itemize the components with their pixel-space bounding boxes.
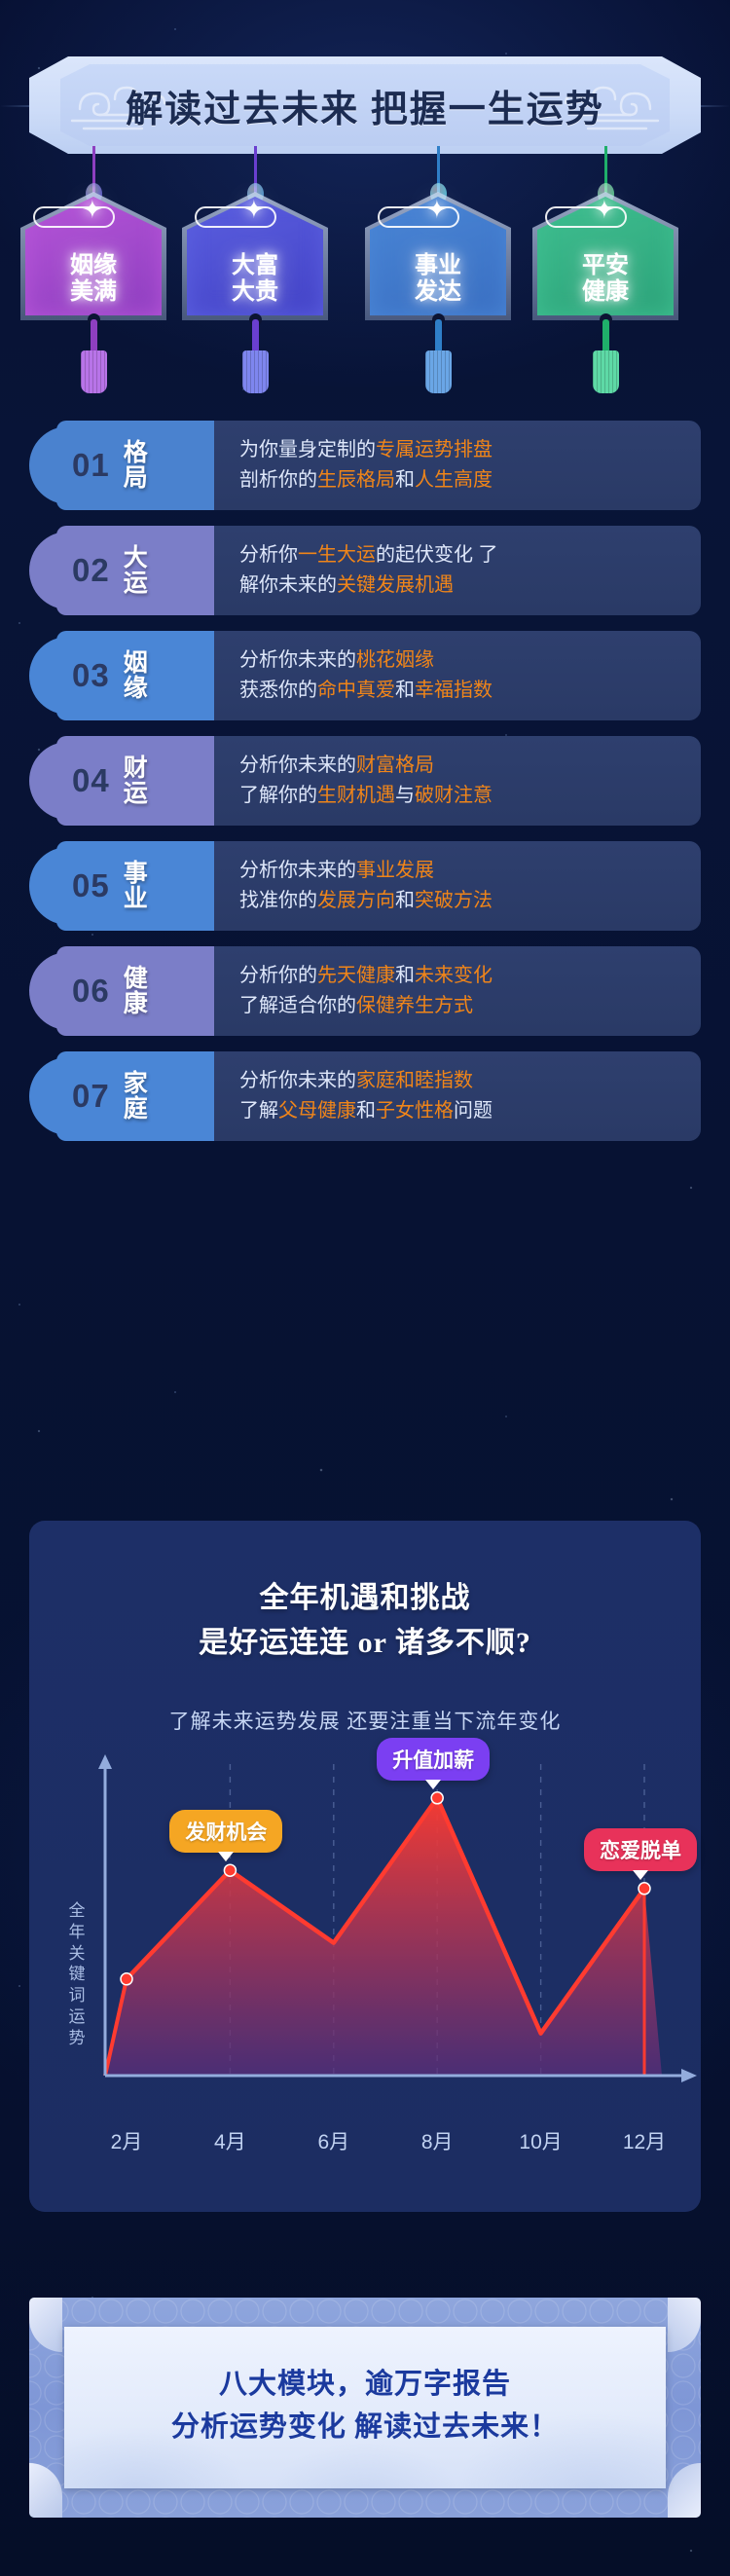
desc-segment: 为你量身定制的 xyxy=(239,439,376,460)
desc-segment: 分析你的 xyxy=(239,965,317,986)
chart-x-tick-label: 12月 xyxy=(623,2126,666,2155)
chart-subtitle: 了解未来运势发展 还要注重当下流年变化 xyxy=(29,1706,701,1735)
desc-segment: 幸福指数 xyxy=(415,680,493,701)
chart-y-arrow-icon xyxy=(98,1754,112,1769)
fortune-chart-card: 全年机遇和挑战 是好运连连 or 诸多不顺? 了解未来运势发展 还要注重当下流年… xyxy=(29,1521,701,2212)
row-desc-line1: 为你量身定制的专属运势排盘 xyxy=(239,435,701,465)
module-row[interactable]: 06健康分析你的先天健康和未来变化了解适合你的保健养生方式 xyxy=(29,946,701,1036)
row-desc-line2: 找准你的发展方向和突破方法 xyxy=(239,886,701,916)
bubble-pointer-icon xyxy=(218,1852,234,1861)
module-row[interactable]: 05事业分析你未来的事业发展找准你的发展方向和突破方法 xyxy=(29,841,701,931)
module-row[interactable]: 03姻缘分析你未来的桃花姻缘获悉你的命中真爱和幸福指数 xyxy=(29,631,701,720)
row-desc-line1: 分析你未来的事业发展 xyxy=(239,856,701,886)
row-desc-line2: 剖析你的生辰格局和人生高度 xyxy=(239,465,701,496)
row-badge: 02大运 xyxy=(56,526,214,615)
tassel-cord xyxy=(435,319,442,354)
module-row[interactable]: 04财运分析你未来的财富格局了解你的生财机遇与破财注意 xyxy=(29,736,701,826)
desc-segment: 和 xyxy=(395,965,415,986)
sparkle-icon: ✦ xyxy=(426,195,448,225)
chart-annotation-bubble: 发财机会 xyxy=(169,1810,282,1853)
footer-line2: 分析运势变化 解读过去未来！ xyxy=(64,2407,666,2449)
row-category: 健康 xyxy=(124,966,148,1017)
desc-segment: 解你未来的 xyxy=(239,574,337,596)
chart-data-point xyxy=(121,1973,132,1985)
tassel-icon xyxy=(425,350,452,393)
desc-segment: 人生高度 xyxy=(415,469,493,491)
chart-x-tick-label: 8月 xyxy=(421,2126,454,2155)
tassel-icon xyxy=(593,350,619,393)
sparkle-icon: ✦ xyxy=(243,195,265,225)
chart-data-point xyxy=(224,1864,236,1876)
row-desc-line1: 分析你的先天健康和未来变化 xyxy=(239,961,701,991)
row-description: 分析你未来的事业发展找准你的发展方向和突破方法 xyxy=(214,841,701,931)
chart-heading-line2: 是好运连连 or 诸多不顺? xyxy=(29,1618,701,1661)
desc-segment: 生财机遇 xyxy=(317,785,395,806)
row-badge: 07家庭 xyxy=(56,1051,214,1141)
row-desc-line1: 分析你未来的财富格局 xyxy=(239,751,701,781)
row-desc-line2: 了解父母健康和子女性格问题 xyxy=(239,1096,701,1126)
desc-segment: 桃花姻缘 xyxy=(356,649,434,671)
chart-heading-line1: 全年机遇和挑战 xyxy=(29,1573,701,1616)
desc-segment: 未来变化 xyxy=(415,965,493,986)
bubble-pointer-icon xyxy=(633,1870,648,1880)
chart-y-axis-label: 全年关键词运势 xyxy=(66,1900,88,2048)
chart-annotation-bubble: 升值加薪 xyxy=(377,1738,490,1781)
desc-segment: 家庭和睦指数 xyxy=(356,1070,473,1091)
desc-segment: 财富格局 xyxy=(356,754,434,776)
module-row[interactable]: 02大运分析你一生大运的起伏变化 了解你未来的关键发展机遇 xyxy=(29,526,701,615)
module-row[interactable]: 01格局为你量身定制的专属运势排盘剖析你的生辰格局和人生高度 xyxy=(29,421,701,510)
desc-segment: 突破方法 xyxy=(415,890,493,911)
chart-plot-area: 全年关键词运势 2月4月6月8月10月12月 发财机会升值加薪恋爱脱单 xyxy=(29,1754,701,2183)
row-desc-line1: 分析你一生大运的起伏变化 了 xyxy=(239,540,701,570)
row-desc-line2: 解你未来的关键发展机遇 xyxy=(239,570,701,601)
sparkle-icon: ✦ xyxy=(82,195,103,225)
desc-segment: 分析你 xyxy=(239,544,298,566)
desc-segment: 分析你未来的 xyxy=(239,1070,356,1091)
module-row[interactable]: 07家庭分析你未来的家庭和睦指数了解父母健康和子女性格问题 xyxy=(29,1051,701,1141)
desc-segment: 了解你的 xyxy=(239,785,317,806)
row-category: 财运 xyxy=(124,755,148,807)
row-description: 分析你一生大运的起伏变化 了解你未来的关键发展机遇 xyxy=(214,526,701,615)
page-title: 解读过去未来 把握一生运势 xyxy=(29,56,701,154)
row-badge: 04财运 xyxy=(56,736,214,826)
tassel-icon xyxy=(81,350,107,393)
bubble-pointer-icon xyxy=(425,1780,441,1789)
desc-segment: 命中真爱 xyxy=(317,680,395,701)
desc-segment: 和 xyxy=(395,890,415,911)
row-badge: 01格局 xyxy=(56,421,214,510)
tassel-icon xyxy=(242,350,269,393)
desc-segment: 保健养生方式 xyxy=(356,995,473,1016)
desc-segment: 关键发展机遇 xyxy=(337,574,454,596)
chart-x-tick-label: 6月 xyxy=(317,2126,349,2155)
desc-segment: 找准你的 xyxy=(239,890,317,911)
row-number: 03 xyxy=(72,657,110,694)
desc-segment: 分析你未来的 xyxy=(239,649,356,671)
desc-segment: 生辰格局 xyxy=(317,469,395,491)
chart-x-tick-label: 4月 xyxy=(214,2126,246,2155)
row-description: 分析你未来的桃花姻缘获悉你的命中真爱和幸福指数 xyxy=(214,631,701,720)
chart-data-point xyxy=(639,1883,650,1895)
desc-segment: 发展方向 xyxy=(317,890,395,911)
row-desc-line2: 了解你的生财机遇与破财注意 xyxy=(239,781,701,811)
tag-label: 姻缘美满 xyxy=(70,253,117,306)
desc-segment: 专属运势排盘 xyxy=(376,439,493,460)
desc-segment: 了解适合你的 xyxy=(239,995,356,1016)
row-description: 为你量身定制的专属运势排盘剖析你的生辰格局和人生高度 xyxy=(214,421,701,510)
desc-segment: 分析你未来的 xyxy=(239,754,356,776)
row-number: 02 xyxy=(72,552,110,589)
desc-segment: 破财注意 xyxy=(415,785,493,806)
hanging-tag-group: 姻缘美满✦大富大贵✦事业发达✦平安健康✦ xyxy=(0,146,730,399)
desc-segment: 问题 xyxy=(454,1100,493,1122)
row-description: 分析你未来的家庭和睦指数了解父母健康和子女性格问题 xyxy=(214,1051,701,1141)
desc-segment: 先天健康 xyxy=(317,965,395,986)
chart-x-arrow-icon xyxy=(681,2069,697,2082)
chart-data-point xyxy=(431,1792,443,1804)
tag-label: 平安健康 xyxy=(582,253,629,306)
sparkle-icon: ✦ xyxy=(594,195,615,225)
row-category: 事业 xyxy=(124,861,148,912)
desc-segment: 子女性格 xyxy=(376,1100,454,1122)
desc-segment: 和 xyxy=(395,469,415,491)
desc-segment: 了解 xyxy=(239,1100,278,1122)
row-number: 06 xyxy=(72,973,110,1010)
row-badge: 03姻缘 xyxy=(56,631,214,720)
row-description: 分析你的先天健康和未来变化了解适合你的保健养生方式 xyxy=(214,946,701,1036)
desc-segment: 分析你未来的 xyxy=(239,860,356,881)
tag-label: 大富大贵 xyxy=(232,253,278,306)
scroll-face: 八大模块，逾万字报告 分析运势变化 解读过去未来！ xyxy=(64,2327,666,2488)
desc-segment: 剖析你的 xyxy=(239,469,317,491)
row-category: 姻缘 xyxy=(124,650,148,702)
footer-text: 八大模块，逾万字报告 分析运势变化 解读过去未来！ xyxy=(64,2364,666,2448)
row-number: 01 xyxy=(72,447,110,484)
desc-segment: 事业发展 xyxy=(356,860,434,881)
row-category: 格局 xyxy=(124,440,148,492)
desc-segment: 与 xyxy=(395,785,415,806)
row-badge: 06健康 xyxy=(56,946,214,1036)
row-desc-line1: 分析你未来的家庭和睦指数 xyxy=(239,1066,701,1096)
row-desc-line1: 分析你未来的桃花姻缘 xyxy=(239,645,701,676)
desc-segment: 一生大运 xyxy=(298,544,376,566)
row-desc-line2: 获悉你的命中真爱和幸福指数 xyxy=(239,676,701,706)
footer-scroll-banner: 八大模块，逾万字报告 分析运势变化 解读过去未来！ xyxy=(29,2286,701,2529)
desc-segment: 获悉你的 xyxy=(239,680,317,701)
row-category: 大运 xyxy=(124,545,148,597)
desc-segment: 和 xyxy=(356,1100,376,1122)
footer-line1: 八大模块，逾万字报告 xyxy=(64,2364,666,2407)
tassel-cord xyxy=(91,319,97,354)
chart-annotation-bubble: 恋爱脱单 xyxy=(584,1828,697,1871)
chart-x-tick-label: 2月 xyxy=(111,2126,143,2155)
chart-x-tick-label: 10月 xyxy=(519,2126,562,2155)
tassel-cord xyxy=(252,319,259,354)
module-list: 01格局为你量身定制的专属运势排盘剖析你的生辰格局和人生高度02大运分析你一生大… xyxy=(0,421,730,1157)
row-number: 07 xyxy=(72,1078,110,1115)
row-desc-line2: 了解适合你的保健养生方式 xyxy=(239,991,701,1021)
fortune-line-chart xyxy=(29,1754,701,2144)
tag-label: 事业发达 xyxy=(415,253,461,306)
row-badge: 05事业 xyxy=(56,841,214,931)
row-number: 05 xyxy=(72,867,110,904)
row-category: 家庭 xyxy=(124,1071,148,1122)
row-number: 04 xyxy=(72,762,110,799)
desc-segment: 的起伏变化 了 xyxy=(376,544,498,566)
desc-segment: 父母健康 xyxy=(278,1100,356,1122)
tassel-cord xyxy=(602,319,609,354)
row-description: 分析你未来的财富格局了解你的生财机遇与破财注意 xyxy=(214,736,701,826)
desc-segment: 和 xyxy=(395,680,415,701)
